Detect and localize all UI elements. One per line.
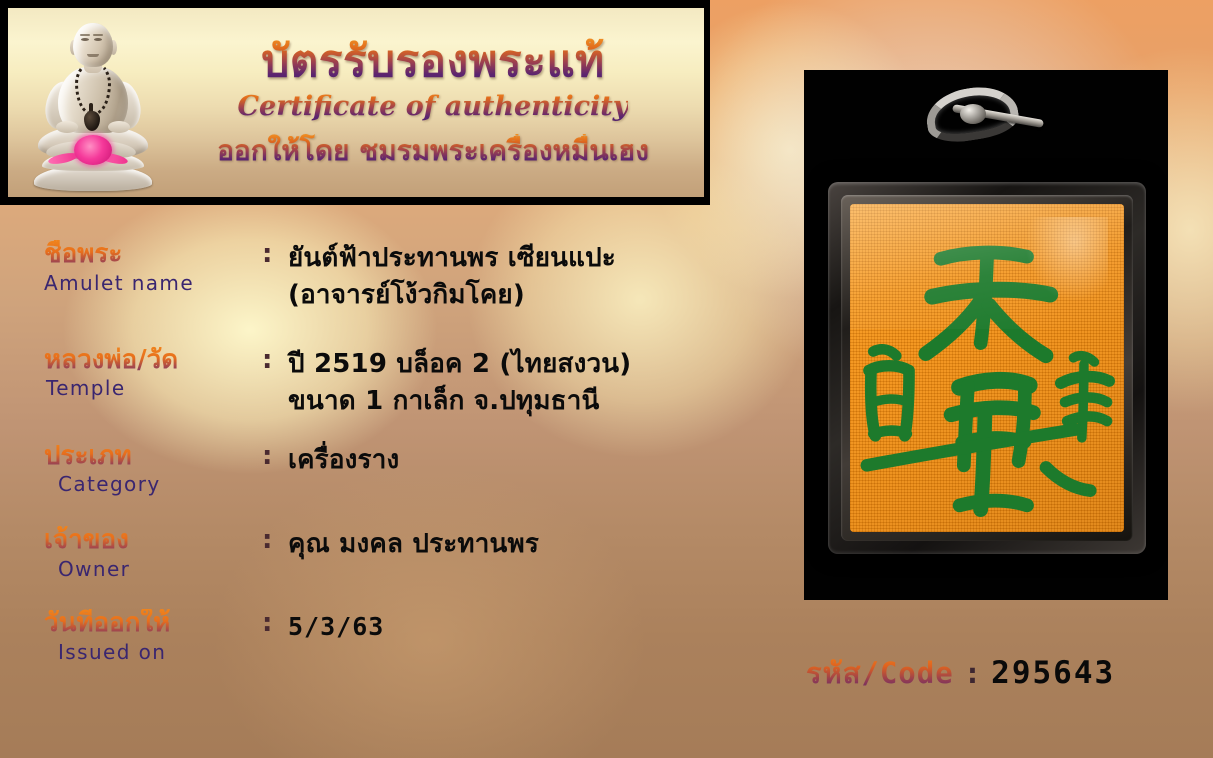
field-value-category: เครื่องราง: [288, 442, 800, 479]
field-label-english: Temple: [44, 376, 262, 400]
field-colon: :: [262, 526, 288, 556]
statue-brow-left: [80, 34, 90, 36]
field-row-owner: เจ้าของ Owner : คุณ มงคล ประทานพร: [0, 526, 800, 581]
field-label-english: Owner: [44, 557, 262, 581]
pendant-bail: [922, 82, 1050, 148]
field-label-thai: เจ้าของ: [44, 526, 262, 556]
field-value-issued-on: 5/3/63: [288, 609, 800, 645]
statue-eye-left: [81, 38, 89, 41]
field-label-owner: เจ้าของ Owner: [0, 526, 262, 581]
field-row-amulet-name: ชื่อพระ Amulet name : ยันต์ฟ้าประทานพร เ…: [0, 240, 800, 314]
field-colon: :: [262, 240, 288, 270]
field-value-owner: คุณ มงคล ประทานพร: [288, 526, 800, 563]
field-label-thai: หลวงพ่อ/วัด: [44, 346, 262, 376]
field-colon: :: [262, 442, 288, 472]
header-banner: อาจารย์โง้วกิมโคย 吳錦枝: [0, 0, 710, 205]
field-label-english: Issued on: [44, 640, 262, 664]
monk-statue-logo: อาจารย์โง้วกิมโคย 吳錦枝: [8, 8, 176, 197]
code-value: 295643: [991, 655, 1115, 691]
field-label-issued-on: วันที่ออกให้ Issued on: [0, 609, 262, 664]
field-label-category: ประเภท Category: [0, 442, 262, 497]
pink-flower-icon: [74, 135, 112, 165]
code-colon: :: [964, 656, 981, 690]
field-label-thai: ชื่อพระ: [44, 240, 262, 270]
monk-statue-figure: อาจารย์โง้วกิมโคย 吳錦枝: [28, 21, 158, 191]
field-label-english: Amulet name: [44, 271, 262, 295]
field-label-thai: ประเภท: [44, 442, 262, 472]
field-label-amulet-name: ชื่อพระ Amulet name: [0, 240, 262, 295]
field-colon: :: [262, 609, 288, 639]
header-inner: อาจารย์โง้วกิมโคย 吳錦枝: [8, 8, 704, 197]
field-label-english: Category: [44, 472, 262, 496]
statue-hand-left: [56, 121, 78, 133]
code-label: รหัส/Code: [806, 650, 954, 696]
field-label-temple: หลวงพ่อ/วัด Temple: [0, 346, 262, 401]
page-title-english: Certificate of authenticity: [238, 91, 629, 123]
field-label-thai: วันที่ออกให้: [44, 609, 262, 639]
case-window: [850, 204, 1124, 532]
field-row-temple: หลวงพ่อ/วัด Temple : ปี 2519 บล็อค 2 (ไท…: [0, 346, 800, 420]
statue-brow-right: [93, 34, 103, 36]
header-text-block: บัตรรับรองพระแท้ Certificate of authenti…: [176, 38, 704, 168]
issuer-line: ออกให้โดย ชมรมพระเครื่องหมื่นเฮง: [217, 134, 649, 168]
field-row-category: ประเภท Category : เครื่องราง: [0, 442, 800, 497]
field-row-issued-on: วันที่ออกให้ Issued on : 5/3/63: [0, 609, 800, 664]
bail-knot: [960, 104, 986, 124]
acrylic-case: [828, 182, 1146, 554]
field-colon: :: [262, 346, 288, 376]
case-rim: [841, 195, 1133, 541]
certificate-code-line: รหัส/Code : 295643: [806, 650, 1115, 696]
statue-eye-right: [94, 38, 102, 41]
chinese-calligraphy-glyphs: [850, 204, 1124, 520]
statue-mouth: [87, 54, 99, 57]
statue-hand-right: [108, 121, 130, 133]
field-value-temple: ปี 2519 บล็อค 2 (ไทยสงวน) ขนาด 1 กาเล็ก …: [288, 346, 800, 420]
field-list: ชื่อพระ Amulet name : ยันต์ฟ้าประทานพร เ…: [0, 214, 800, 664]
field-value-amulet-name: ยันต์ฟ้าประทานพร เซียนแปะ (อาจารย์โง้วกิ…: [288, 240, 800, 314]
amulet-photograph: [804, 70, 1168, 600]
certificate-page: อาจารย์โง้วกิมโคย 吳錦枝: [0, 0, 1213, 758]
page-title-thai: บัตรรับรองพระแท้: [261, 38, 604, 86]
